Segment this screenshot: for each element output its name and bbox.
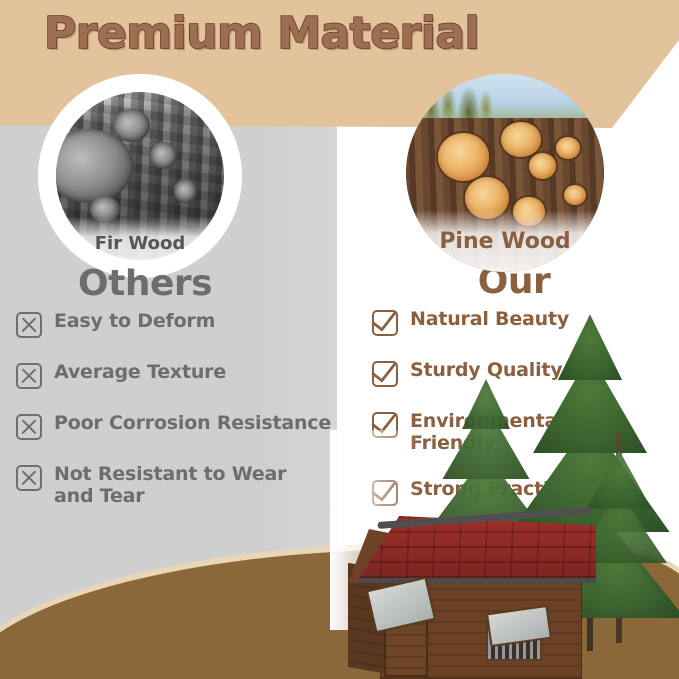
fir-log-shape <box>174 179 198 203</box>
pine-log-end <box>501 122 541 158</box>
wooden-dog-house-photo <box>348 511 598 679</box>
others-feature-list: Easy to Deform Average Texture Poor Corr… <box>16 310 336 531</box>
pine-log-end <box>529 153 557 179</box>
list-item: Not Resistant to Wear and Tear <box>16 463 336 508</box>
list-item-label: Strong Practicality <box>410 478 607 500</box>
list-item-label: Poor Corrosion Resistance <box>54 412 331 434</box>
others-heading: Others <box>78 263 208 304</box>
list-item-label: Environmentally Friendly <box>410 410 672 455</box>
fir-wood-caption: Fir Wood <box>47 217 233 269</box>
premium-material-banner: Premium Material Fir Wood Pine Wood <box>0 0 679 679</box>
check-mark-icon <box>372 310 398 336</box>
list-item-label: Average Texture <box>54 361 226 383</box>
list-item-label: Sturdy Quality <box>410 359 562 381</box>
pine-wood-caption: Pine Wood <box>406 210 604 272</box>
list-item: Natural Beauty <box>372 308 672 336</box>
list-item-label: Natural Beauty <box>410 308 569 330</box>
fir-wood-photo-circle: Fir Wood <box>47 83 233 269</box>
pine-log-end <box>564 185 586 205</box>
list-item: Average Texture <box>16 361 336 389</box>
list-item: Sturdy Quality <box>372 359 672 387</box>
list-item-label: Easy to Deform <box>54 310 215 332</box>
pine-wood-photo-circle: Pine Wood <box>406 74 604 272</box>
x-mark-icon <box>16 312 42 338</box>
x-mark-icon <box>16 414 42 440</box>
list-item-label: Not Resistant to Wear and Tear <box>54 463 299 508</box>
list-item: Poor Corrosion Resistance <box>16 412 336 440</box>
x-mark-icon <box>16 465 42 491</box>
pine-log-end <box>438 133 489 181</box>
check-mark-icon <box>372 361 398 387</box>
page-title: Premium Material <box>44 12 479 56</box>
x-mark-icon <box>16 363 42 389</box>
list-item: Easy to Deform <box>16 310 336 338</box>
